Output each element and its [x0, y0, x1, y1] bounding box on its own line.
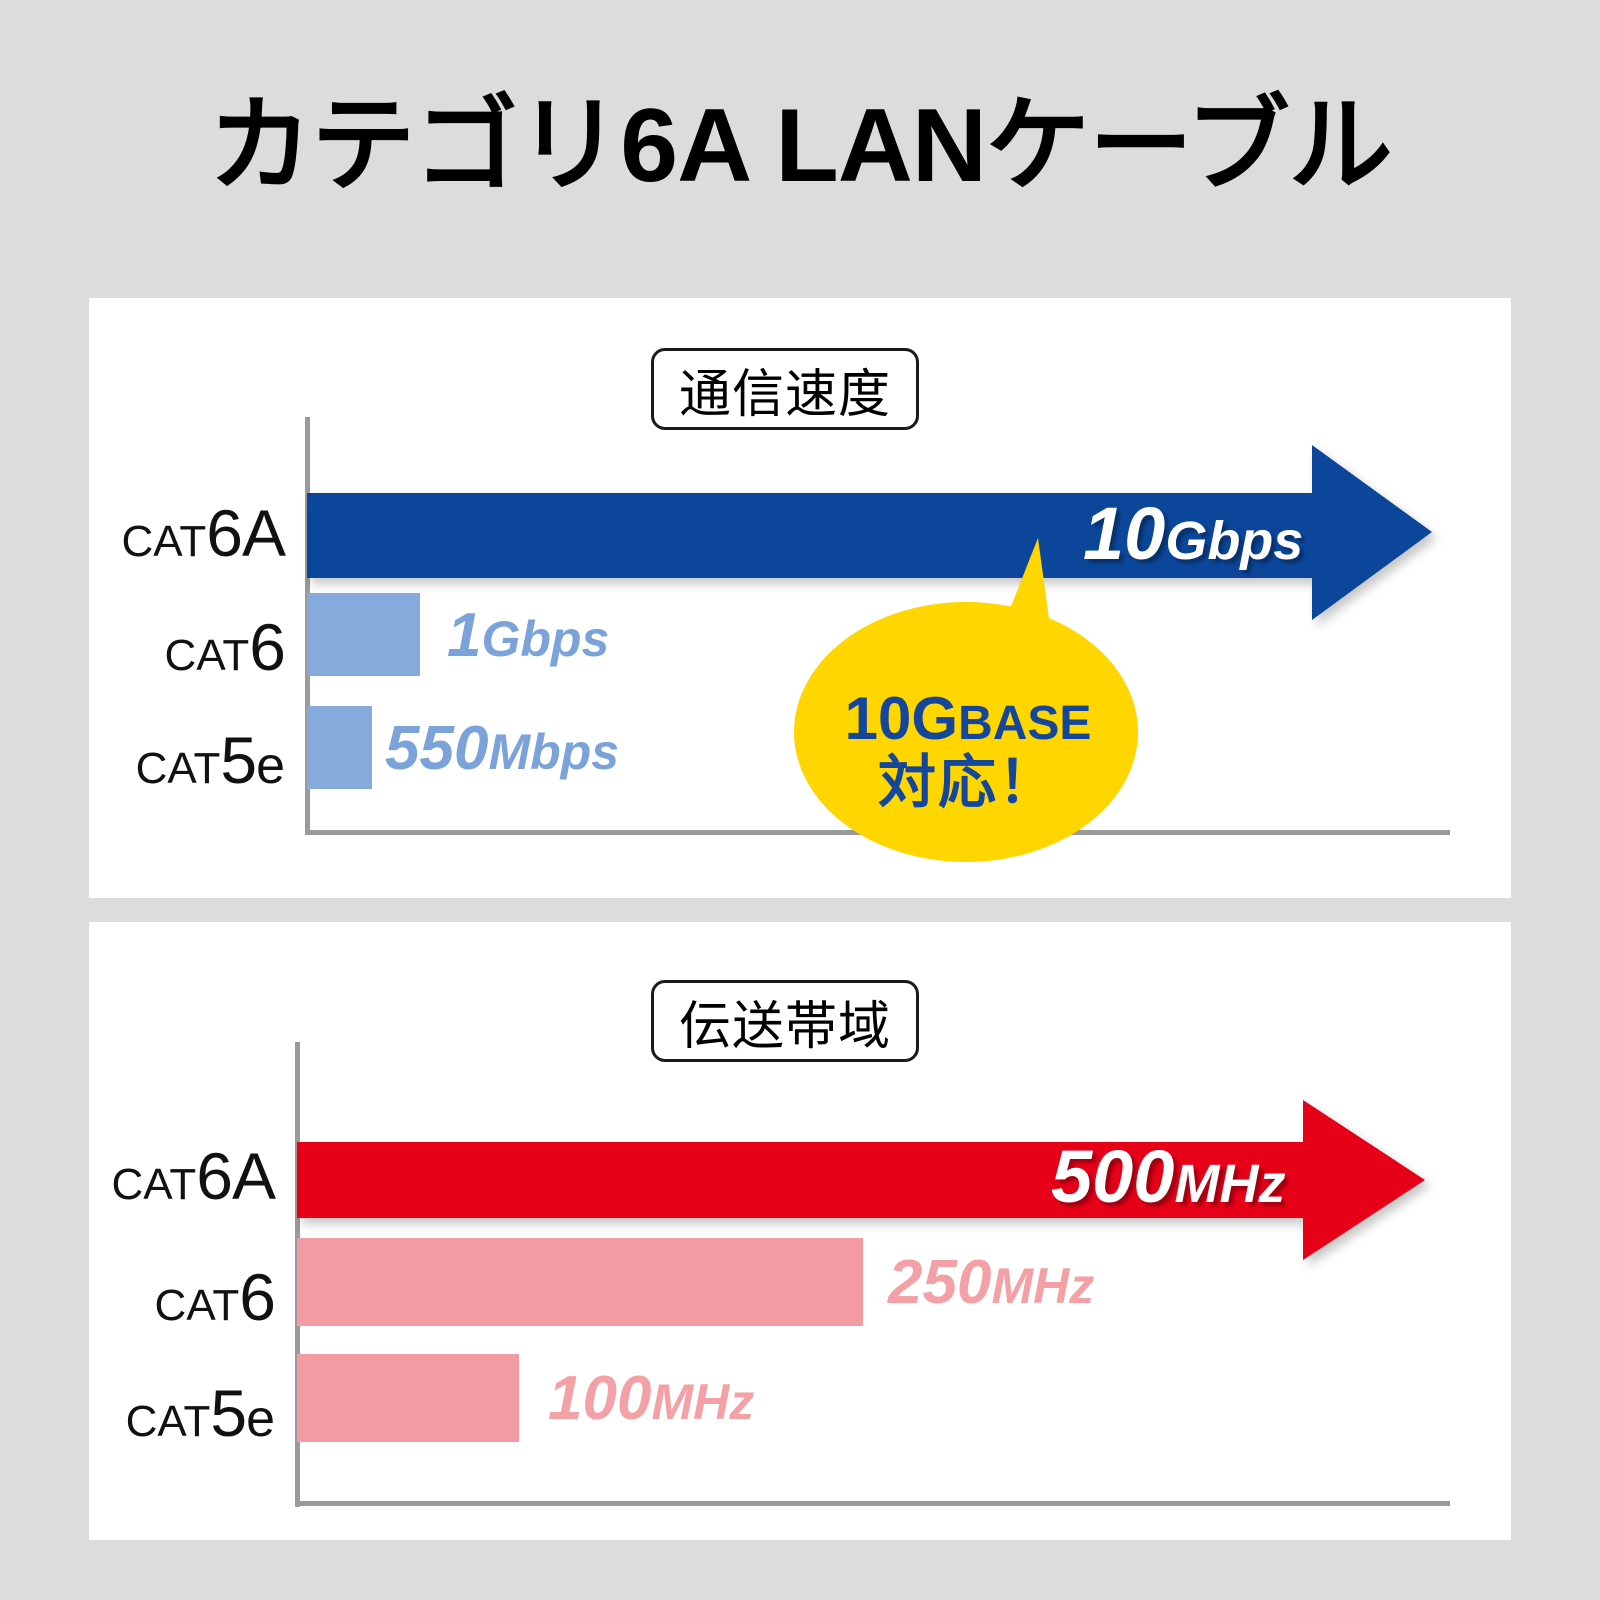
value-unit: MHz	[991, 1258, 1094, 1314]
value-number: 550	[385, 714, 488, 783]
cat-prefix: CAT	[112, 1160, 197, 1209]
cat-prefix: CAT	[136, 744, 221, 793]
speed-bar-5e	[307, 706, 372, 789]
callout-text: 10GBASE 対応！	[788, 688, 1148, 812]
page-title: カテゴリ6A LANケーブル	[0, 88, 1600, 204]
cat-number: 6	[239, 1260, 275, 1334]
value-unit: Mbps	[488, 724, 619, 780]
cat-prefix: CAT	[155, 1281, 240, 1330]
cat-number: 6A	[196, 1139, 275, 1213]
caption-communication-speed: 通信速度	[651, 348, 919, 430]
value-unit: Gbps	[1165, 511, 1303, 571]
speed-bar-6	[307, 593, 420, 676]
band-chart-x-axis	[295, 1501, 1450, 1506]
infographic-root: カテゴリ6A LANケーブル 通信速度 CAT6A 10Gbps CAT6 1G…	[0, 0, 1600, 1600]
value-number: 100	[548, 1364, 651, 1433]
cat-number: 5	[220, 723, 256, 797]
cat-suffix: e	[246, 1390, 275, 1448]
value-number: 1	[447, 601, 481, 670]
speed-value-label-5e: 550Mbps	[385, 718, 619, 780]
cat-suffix: e	[256, 737, 285, 795]
cat-prefix: CAT	[126, 1397, 211, 1446]
callout-line1-suffix: BASE	[958, 697, 1091, 750]
callout-10gbase: 10GBASE 対応！	[788, 520, 1148, 870]
band-value-label-6: 250MHz	[888, 1252, 1094, 1314]
band-bar-6	[297, 1238, 863, 1326]
value-number: 500	[1051, 1135, 1174, 1218]
value-unit: Gbps	[481, 611, 609, 667]
caption-transmission-bandwidth: 伝送帯域	[651, 980, 919, 1062]
band-value-label-5e: 100MHz	[548, 1368, 754, 1430]
callout-line2: 対応！	[788, 753, 1148, 812]
cat-number: 5	[210, 1376, 246, 1450]
value-number: 250	[888, 1248, 991, 1317]
value-unit: MHz	[1174, 1154, 1285, 1214]
value-unit: MHz	[651, 1374, 754, 1430]
caption-label: 伝送帯域	[679, 984, 891, 1059]
band-cat-label-5e: CAT5e	[50, 1380, 275, 1446]
band-bar-5e	[297, 1354, 519, 1442]
band-cat-label-6a: CAT6A	[50, 1143, 275, 1209]
speed-cat-label-6a: CAT6A	[60, 500, 285, 566]
cat-number: 6A	[206, 496, 285, 570]
cat-number: 6	[249, 610, 285, 684]
speed-value-label-6: 1Gbps	[447, 605, 609, 667]
cat-prefix: CAT	[122, 517, 207, 566]
speed-cat-label-6: CAT6	[60, 614, 285, 680]
caption-label: 通信速度	[679, 352, 891, 427]
callout-line1-prefix: 10G	[845, 685, 958, 752]
band-value-label-6a: 500MHz	[1051, 1140, 1285, 1214]
cat-prefix: CAT	[165, 631, 250, 680]
band-cat-label-6: CAT6	[50, 1264, 275, 1330]
speed-cat-label-5e: CAT5e	[60, 727, 285, 793]
